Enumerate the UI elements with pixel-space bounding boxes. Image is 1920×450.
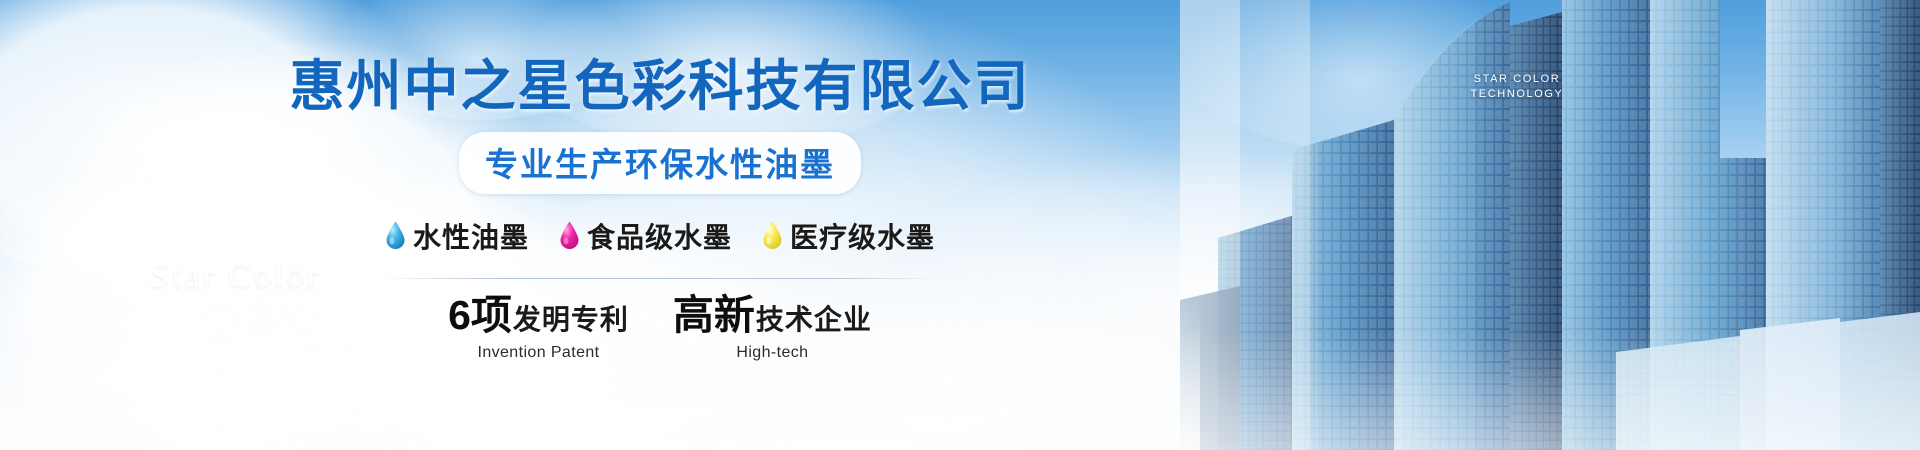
list-item: 水性油墨 bbox=[385, 216, 529, 256]
list-item: 食品级水墨 bbox=[559, 216, 732, 256]
honor-item: 高新 技术企业 High-tech bbox=[673, 295, 872, 362]
list-item-label: 医疗级水墨 bbox=[790, 216, 935, 256]
hero-banner: STAR COLOR TECHNOLOGY Star Color 惠州中之星色彩… bbox=[0, 0, 1920, 450]
subtitle-text: 专业生产环保水性油墨 bbox=[485, 146, 835, 183]
product-list: 水性油墨 食品级水墨 bbox=[385, 216, 935, 256]
honor-english: Invention Patent bbox=[477, 344, 599, 362]
banner-content: 惠州中之星色彩科技有限公司 专业生产环保水性油墨 水性油 bbox=[0, 0, 1320, 450]
honor-subtext: 技术企业 bbox=[756, 306, 872, 334]
honors-list: 6项 发明专利 Invention Patent 高新 技术企业 High-te… bbox=[448, 295, 872, 362]
list-item-label: 食品级水墨 bbox=[587, 216, 732, 256]
divider bbox=[380, 278, 940, 279]
honor-subtext: 发明专利 bbox=[513, 306, 629, 334]
honor-chinese: 高新 技术企业 bbox=[673, 295, 872, 336]
honor-english: High-tech bbox=[736, 344, 808, 362]
list-item-label: 水性油墨 bbox=[413, 216, 529, 256]
water-drop-icon bbox=[762, 221, 783, 250]
water-drop-icon bbox=[559, 221, 580, 250]
subtitle-pill: 专业生产环保水性油墨 bbox=[459, 132, 861, 194]
honor-item: 6项 发明专利 Invention Patent bbox=[448, 295, 629, 362]
list-item: 医疗级水墨 bbox=[762, 216, 935, 256]
honor-headline: 高新 bbox=[673, 295, 755, 336]
water-drop-icon bbox=[385, 221, 406, 250]
honor-headline: 6项 bbox=[448, 295, 512, 336]
page-title: 惠州中之星色彩科技有限公司 bbox=[289, 56, 1030, 118]
honor-chinese: 6项 发明专利 bbox=[448, 295, 629, 336]
